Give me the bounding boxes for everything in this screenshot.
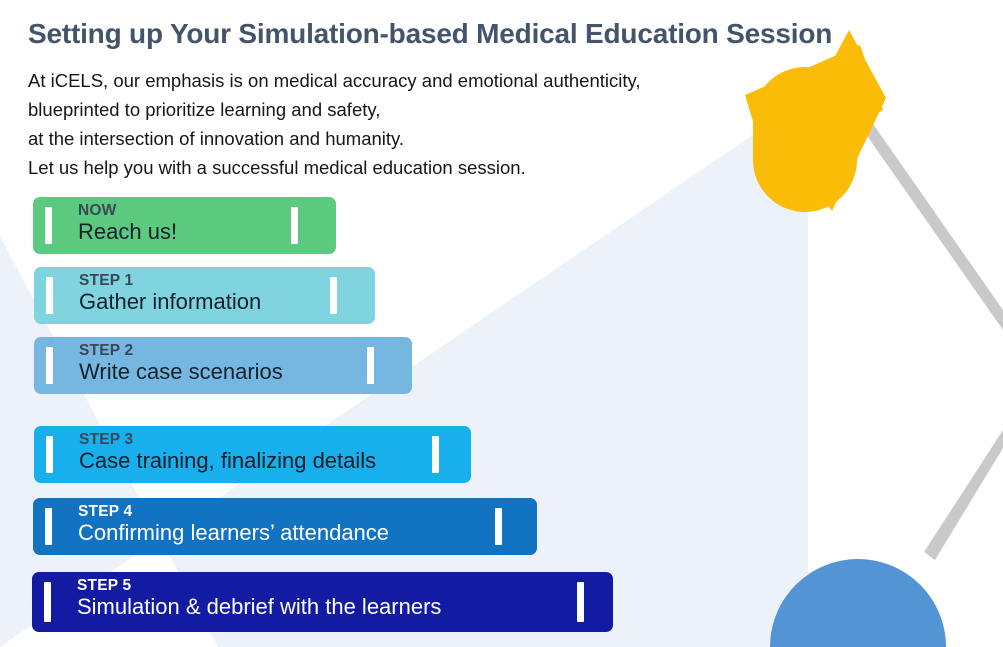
step-description: Reach us! — [78, 219, 177, 245]
step-bar-step-4[interactable]: STEP 4Confirming learners’ attendance — [33, 498, 537, 555]
step-list: NOWReach us!STEP 1Gather informationSTEP… — [0, 0, 1003, 647]
step-description: Gather information — [79, 289, 261, 315]
step-description: Write case scenarios — [79, 359, 283, 385]
step-tick-right-icon — [432, 436, 439, 473]
step-tick-left-icon — [46, 277, 53, 314]
step-description: Confirming learners’ attendance — [78, 520, 389, 546]
step-tick-left-icon — [45, 207, 52, 244]
step-label: STEP 1 — [79, 272, 133, 290]
step-bar-step-1[interactable]: STEP 1Gather information — [34, 267, 375, 324]
step-label: STEP 4 — [78, 503, 132, 521]
step-bar-now[interactable]: NOWReach us! — [33, 197, 336, 254]
step-label: NOW — [78, 202, 116, 220]
step-description: Case training, finalizing details — [79, 448, 376, 474]
step-tick-left-icon — [45, 508, 52, 545]
step-tick-left-icon — [44, 582, 51, 622]
step-description: Simulation & debrief with the learners — [77, 594, 441, 620]
step-label: STEP 5 — [77, 577, 131, 595]
step-tick-right-icon — [367, 347, 374, 384]
step-label: STEP 2 — [79, 342, 133, 360]
step-tick-right-icon — [577, 582, 584, 622]
step-tick-right-icon — [495, 508, 502, 545]
step-label: STEP 3 — [79, 431, 133, 449]
step-bar-step-2[interactable]: STEP 2Write case scenarios — [34, 337, 412, 394]
step-tick-right-icon — [330, 277, 337, 314]
step-tick-right-icon — [291, 207, 298, 244]
step-bar-step-5[interactable]: STEP 5Simulation & debrief with the lear… — [32, 572, 613, 632]
step-bar-step-3[interactable]: STEP 3Case training, finalizing details — [34, 426, 471, 483]
step-tick-left-icon — [46, 436, 53, 473]
step-tick-left-icon — [46, 347, 53, 384]
